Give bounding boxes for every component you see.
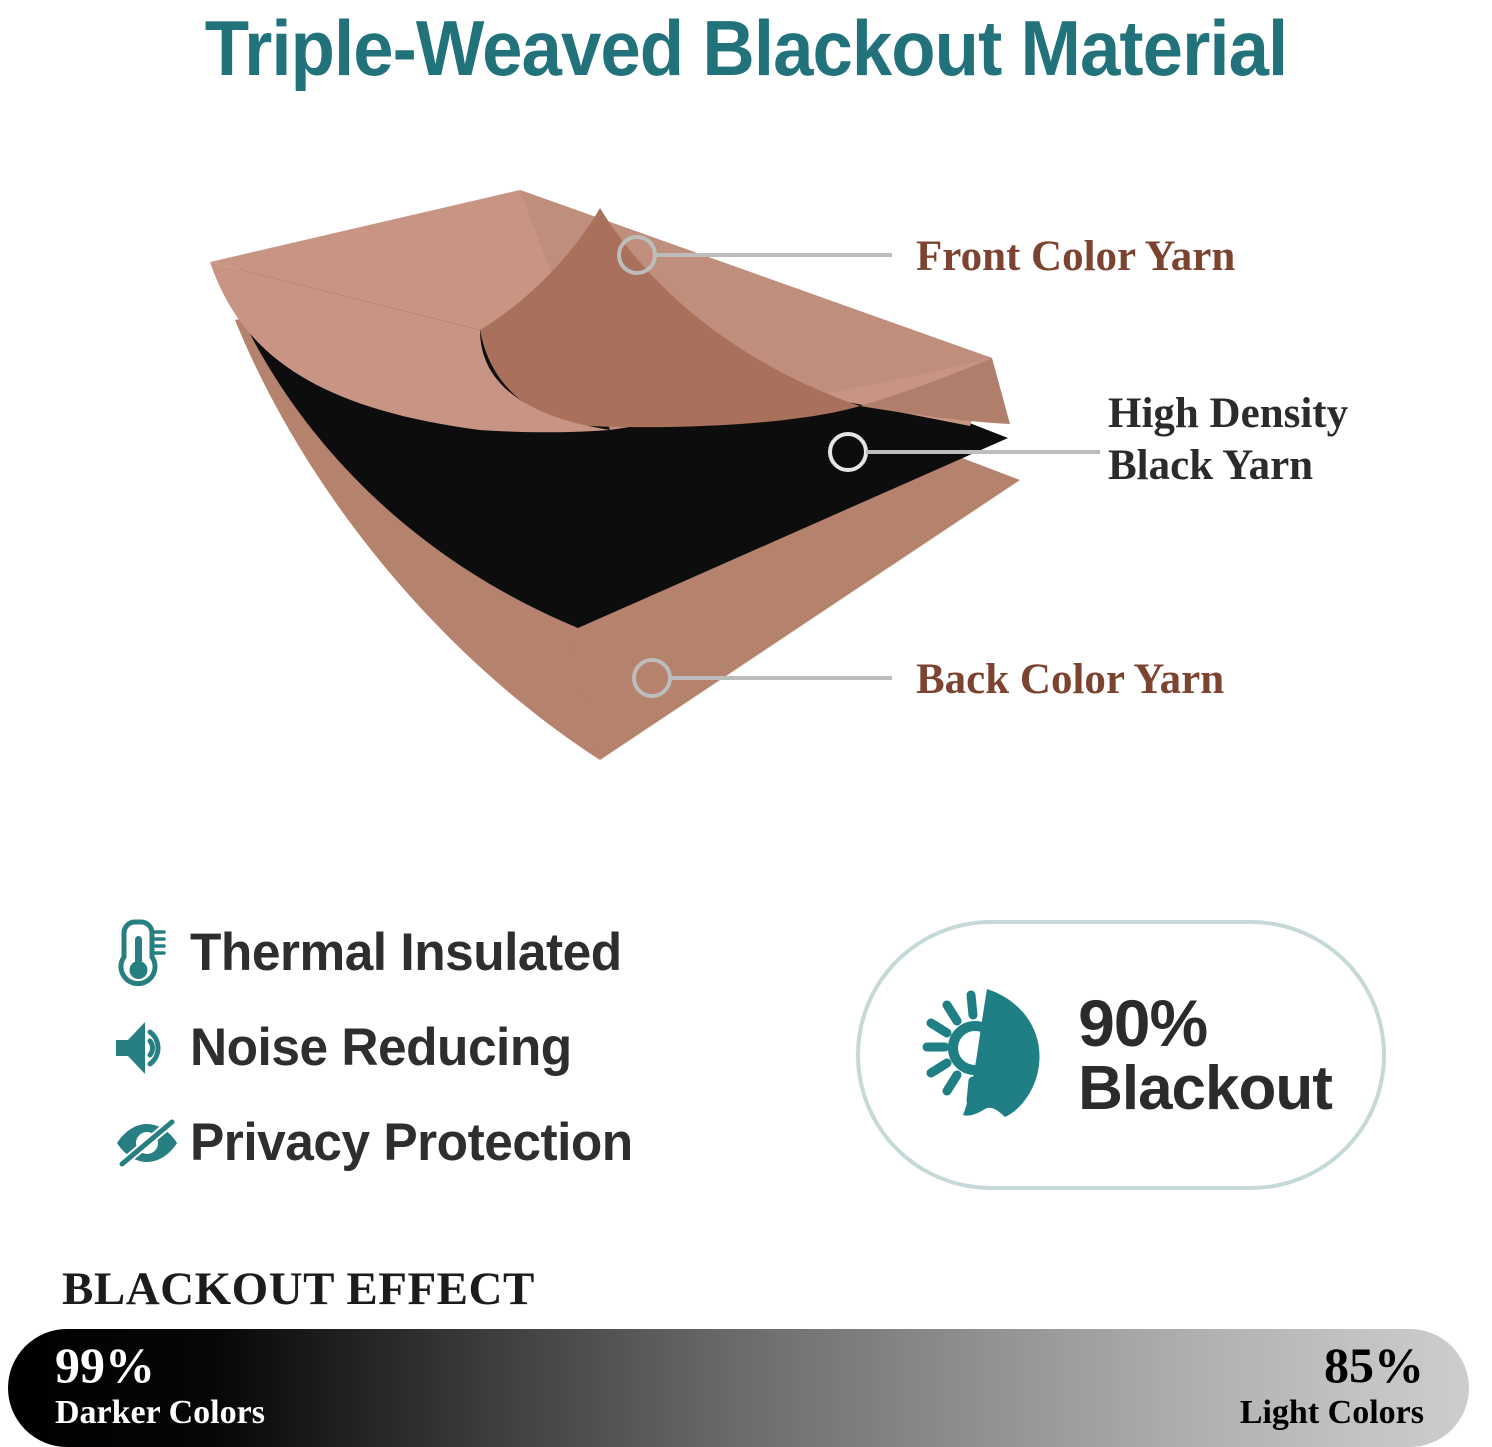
callout-label-line2: Black Yarn: [1108, 440, 1348, 492]
feature-item-thermal-insulated: Thermal Insulated: [112, 905, 772, 1000]
badge-word: Blackout: [1078, 1057, 1332, 1120]
feature-item-privacy-protection: Privacy Protection: [112, 1095, 772, 1190]
feature-label-thermal-insulated: Thermal Insulated: [190, 922, 622, 983]
feature-label-noise-reducing: Noise Reducing: [190, 1017, 572, 1078]
badge-percent: 90%: [1078, 990, 1332, 1057]
light-colors-percent: 85%: [1240, 1337, 1424, 1393]
darker-colors-caption: Darker Colors: [55, 1393, 265, 1433]
speaker-sound-icon: [112, 1018, 190, 1078]
blackout-percentage-badge: 90% Blackout: [856, 920, 1386, 1190]
sun-behind-curtain-icon: [910, 985, 1060, 1125]
callout-label-line1: High Density: [1108, 388, 1348, 440]
callout-label-front: Front Color Yarn: [916, 232, 1235, 281]
page-title: Triple-Weaved Blackout Material: [52, 0, 1440, 96]
callout-label-back: Back Color Yarn: [916, 655, 1224, 704]
feature-label-privacy-protection: Privacy Protection: [190, 1112, 633, 1173]
light-colors-caption: Light Colors: [1240, 1393, 1424, 1433]
blackout-effect-light-group: 85% Light Colors: [1240, 1337, 1424, 1433]
blackout-effect-darker-group: 99% Darker Colors: [55, 1337, 265, 1433]
callout-label-high-density-black: High Density Black Yarn: [1108, 388, 1348, 492]
blackout-effect-heading: BLACKOUT EFFECT: [62, 1262, 535, 1316]
eye-slash-icon: [112, 1116, 190, 1170]
feature-list: Thermal Insulated Noise Reducing Privacy…: [112, 905, 772, 1190]
thermometer-icon: [112, 916, 190, 990]
badge-text-group: 90% Blackout: [1078, 990, 1332, 1121]
feature-item-noise-reducing: Noise Reducing: [112, 1000, 772, 1095]
darker-colors-percent: 99%: [55, 1337, 265, 1393]
